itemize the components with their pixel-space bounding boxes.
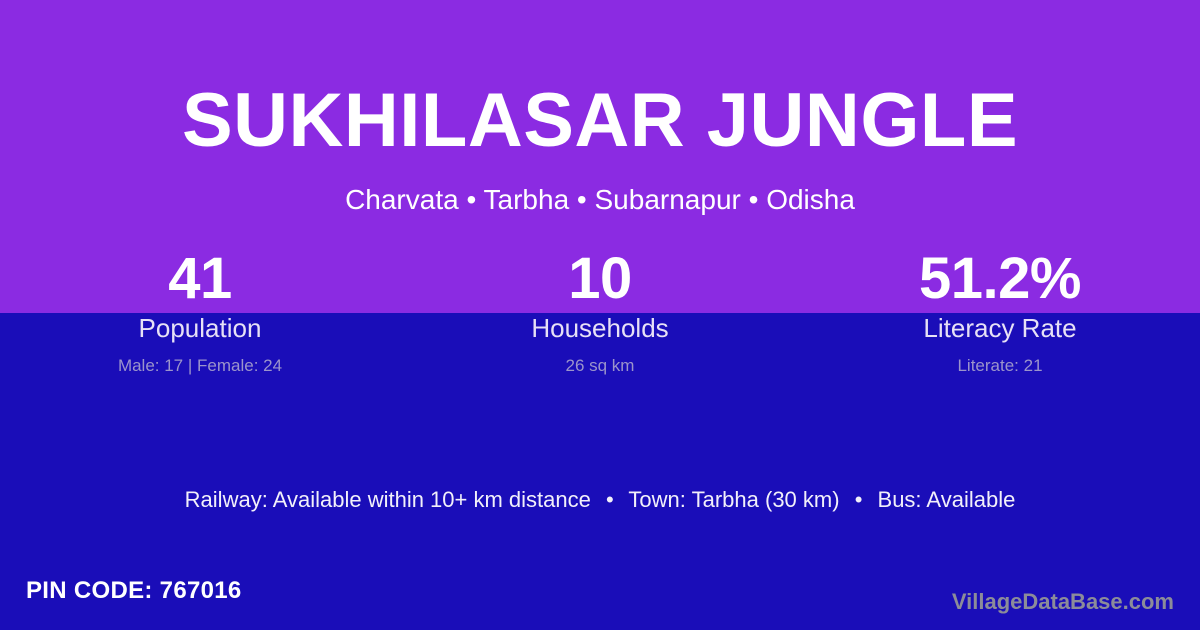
page-title: SUKHILASAR JUNGLE [0,78,1200,164]
infra-separator-1: • [597,486,623,514]
stat-population: 41 Population Male: 17 | Female: 24 [0,248,400,377]
stats-row: 41 Population Male: 17 | Female: 24 10 H… [0,248,1200,377]
stat-literacy-rate: 51.2% Literacy Rate Literate: 21 [800,248,1200,377]
stat-detail-literacy-rate: Literate: 21 [800,355,1200,377]
stat-label-population: Population [0,312,400,344]
infra-railway: Railway: Available within 10+ km distanc… [185,487,591,512]
infra-separator-2: • [846,486,872,514]
location-breadcrumb: Charvata • Tarbha • Subarnapur • Odisha [0,183,1200,217]
stat-value-literacy-rate: 51.2% [800,248,1200,310]
stat-value-households: 10 [400,248,800,310]
infra-bus: Bus: Available [878,487,1016,512]
infra-town: Town: Tarbha (30 km) [628,487,839,512]
village-info-card: SUKHILASAR JUNGLE Charvata • Tarbha • Su… [0,0,1200,630]
infrastructure-line: Railway: Available within 10+ km distanc… [0,486,1200,514]
brand-watermark: VillageDataBase.com [952,588,1174,616]
pin-code: PIN CODE: 767016 [26,576,242,606]
stat-label-literacy-rate: Literacy Rate [800,312,1200,344]
stat-detail-households: 26 sq km [400,355,800,377]
stat-detail-population: Male: 17 | Female: 24 [0,355,400,377]
stat-households: 10 Households 26 sq km [400,248,800,377]
stat-label-households: Households [400,312,800,344]
stat-value-population: 41 [0,248,400,310]
